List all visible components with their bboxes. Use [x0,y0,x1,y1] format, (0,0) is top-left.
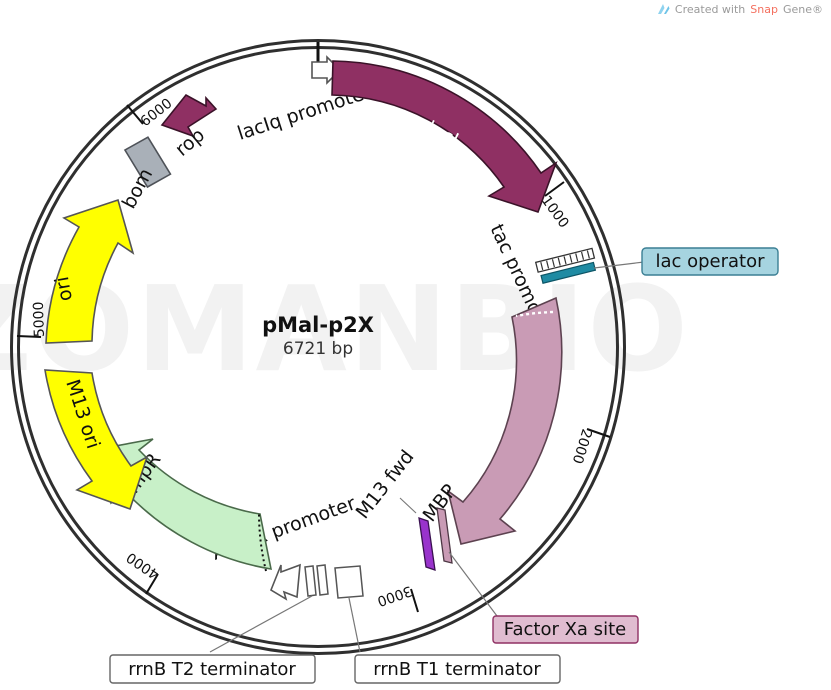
tick-3000: 3000 [375,582,418,612]
callout-line-m13-fwd [400,498,416,513]
tick-label-3000: 3000 [375,582,414,609]
tick-label-2000: 2000 [569,427,595,466]
callout-line-rrnB-T2 [210,596,312,652]
feature-label-ori: ori [51,275,77,303]
feature-label-M13-fwd: M13 fwd [352,446,419,523]
plasmid-map: ZOMANBIO 1000 2000 3000 4000 [0,0,831,690]
tick-label-4000: 4000 [124,549,162,582]
feature-M13-fwd[interactable] [419,518,435,570]
callout-label-factor-xa-site: Factor Xa site [504,619,626,640]
tick-label-5000: 5000 [31,301,48,337]
callout-rrnB-T2-terminator[interactable]: rrnB T2 terminator [110,655,315,683]
callout-lac-operator[interactable]: lac operator [642,248,778,275]
feature-rrnB-T2-terminator[interactable] [305,565,328,596]
callout-factor-xa-site[interactable]: Factor Xa site [493,616,638,643]
callout-label-rrnB-T1-terminator: rrnB T1 terminator [373,659,541,680]
feature-AmpR-promoter[interactable] [271,565,300,599]
plasmid-name: pMal-p2X [262,313,374,337]
feature-rrnB-T1-terminator[interactable] [335,566,363,598]
plasmid-size: 6721 bp [283,339,353,359]
feature-Factor-Xa-site[interactable] [437,508,452,563]
callout-label-lac-operator: lac operator [655,251,765,272]
callout-label-rrnB-T2-terminator: rrnB T2 terminator [128,659,296,680]
callout-rrnB-T1-terminator[interactable]: rrnB T1 terminator [355,655,560,683]
